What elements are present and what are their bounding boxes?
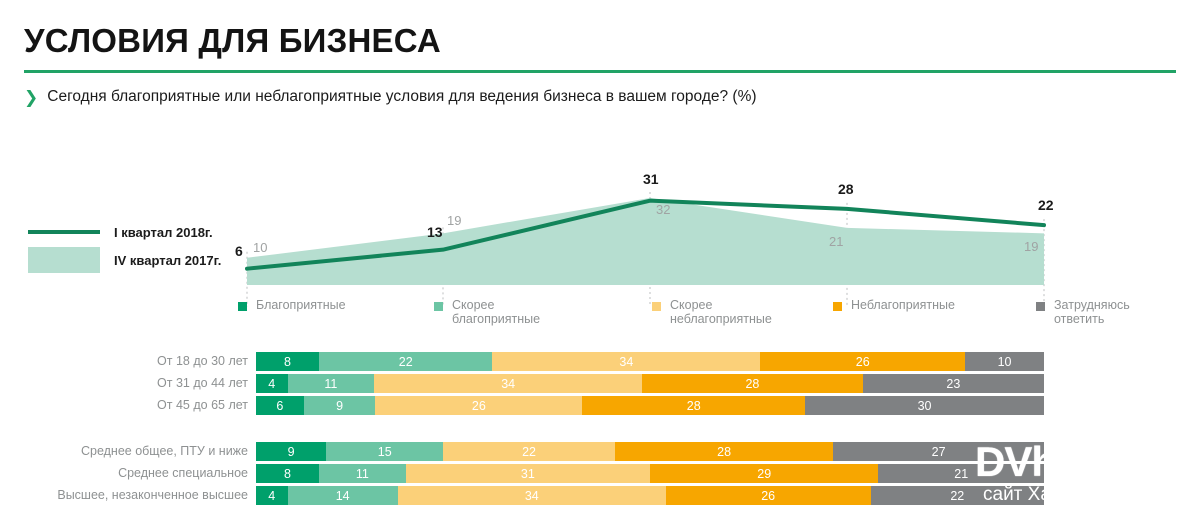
chart-value-label-2018: 13	[427, 224, 443, 240]
table-row: От 31 до 44 лет411342823	[0, 374, 1200, 393]
chart-value-label-2017: 32	[656, 202, 670, 217]
bar-row-label: От 18 до 30 лет	[157, 352, 248, 371]
chart-value-label-2017: 19	[1024, 239, 1038, 254]
category-legend-item-4: Затрудняюсь ответить	[1036, 298, 1130, 326]
category-legend-label: Скорее благоприятные	[452, 298, 540, 326]
chart-value-label-2018: 28	[838, 181, 854, 197]
legend-line-swatch	[28, 230, 100, 234]
bar-row-label: Среднее специальное	[118, 464, 248, 483]
table-row: От 18 до 30 лет822342610	[0, 352, 1200, 371]
bar-segment: 14	[288, 486, 398, 505]
category-color-swatch	[238, 302, 247, 311]
category-legend-item-3: Неблагоприятные	[833, 298, 955, 312]
bar-segment: 11	[319, 464, 406, 483]
bar-segment: 9	[304, 396, 376, 415]
bar-track: 811312921	[256, 464, 1044, 483]
chevron-right-icon: ❯	[24, 89, 38, 106]
category-color-swatch	[833, 302, 842, 311]
bar-segment: 28	[615, 442, 833, 461]
subtitle-text: Сегодня благоприятные или неблагоприятны…	[47, 88, 756, 106]
bar-track: 822342610	[256, 352, 1044, 371]
bar-segment: 31	[406, 464, 650, 483]
legend-area-swatch	[28, 247, 100, 273]
series-legend: I квартал 2018г. IV квартал 2017г.	[28, 218, 258, 274]
legend-label-2018: I квартал 2018г.	[114, 225, 213, 240]
bar-segment: 6	[256, 396, 304, 415]
bar-segment: 23	[863, 374, 1044, 393]
chart-value-label-2018: 22	[1038, 197, 1054, 213]
category-legend-item-1: Скорее благоприятные	[434, 298, 540, 326]
chart-value-label-2017: 21	[829, 234, 843, 249]
bar-track: 915222827	[256, 442, 1044, 461]
title-divider	[24, 70, 1176, 73]
bar-segment: 34	[492, 352, 760, 371]
bar-track: 69262830	[256, 396, 1044, 415]
bar-segment: 22	[443, 442, 615, 461]
bar-segment: 22	[319, 352, 492, 371]
table-row: Среднее общее, ПТУ и ниже915222827	[0, 442, 1200, 461]
bar-segment: 4	[256, 486, 288, 505]
bar-segment: 15	[326, 442, 443, 461]
bar-segment: 27	[833, 442, 1044, 461]
bar-row-label: Высшее, незаконченное высшее	[57, 486, 248, 505]
bar-segment: 28	[582, 396, 805, 415]
bar-segment: 26	[760, 352, 965, 371]
bar-segment: 10	[965, 352, 1044, 371]
bar-segment: 21	[878, 464, 1043, 483]
bar-segment: 30	[805, 396, 1044, 415]
legend-item-2017: IV квартал 2017г.	[28, 246, 258, 274]
bar-segment: 34	[398, 486, 666, 505]
bar-segment: 22	[871, 486, 1044, 505]
table-row: Высшее, незаконченное высшее414342622	[0, 486, 1200, 505]
subtitle-row: ❯ Сегодня благоприятные или неблагоприят…	[24, 85, 1174, 109]
category-color-swatch	[652, 302, 661, 311]
bar-segment: 26	[375, 396, 582, 415]
bar-segment: 8	[256, 352, 319, 371]
stacked-bar-breakdowns: От 18 до 30 лет822342610От 31 до 44 лет4…	[0, 352, 1200, 520]
bar-segment: 11	[288, 374, 375, 393]
infographic-page: УСЛОВИЯ ДЛЯ БИЗНЕСА ❯ Сегодня благоприят…	[0, 0, 1200, 520]
category-legend-label: Скорее неблагоприятные	[670, 298, 772, 326]
bar-row-label: От 45 до 65 лет	[157, 396, 248, 415]
bar-segment: 28	[642, 374, 863, 393]
area-series-2017	[247, 198, 1044, 285]
category-legend-label: Благоприятные	[256, 298, 346, 312]
bar-segment: 34	[374, 374, 642, 393]
chart-value-label-2017: 19	[447, 213, 461, 228]
chart-value-label-2018: 31	[643, 171, 659, 187]
table-row: Среднее специальное811312921	[0, 464, 1200, 483]
category-color-swatch	[1036, 302, 1045, 311]
bar-row-label: Среднее общее, ПТУ и ниже	[81, 442, 248, 461]
category-color-swatch	[434, 302, 443, 311]
bar-segment: 26	[666, 486, 871, 505]
category-legend-item-2: Скорее неблагоприятные	[652, 298, 772, 326]
bar-group-age: От 18 до 30 лет822342610От 31 до 44 лет4…	[0, 352, 1200, 418]
bar-segment: 29	[650, 464, 879, 483]
category-legend-label: Неблагоприятные	[851, 298, 955, 312]
category-legend-label: Затрудняюсь ответить	[1054, 298, 1130, 326]
bar-segment: 9	[256, 442, 326, 461]
legend-label-2017: IV квартал 2017г.	[114, 253, 221, 268]
table-row: От 45 до 65 лет69262830	[0, 396, 1200, 415]
category-legend: БлагоприятныеСкорее благоприятныеСкорее …	[0, 298, 1200, 338]
category-legend-item-0: Благоприятные	[238, 298, 346, 312]
bar-segment: 4	[256, 374, 288, 393]
legend-item-2018: I квартал 2018г.	[28, 218, 258, 246]
bar-track: 411342823	[256, 374, 1044, 393]
bar-group-education: Среднее общее, ПТУ и ниже915222827Средне…	[0, 442, 1200, 508]
bar-row-label: От 31 до 44 лет	[157, 374, 248, 393]
bar-track: 414342622	[256, 486, 1044, 505]
page-title: УСЛОВИЯ ДЛЯ БИЗНЕСА	[24, 22, 441, 60]
bar-segment: 8	[256, 464, 319, 483]
